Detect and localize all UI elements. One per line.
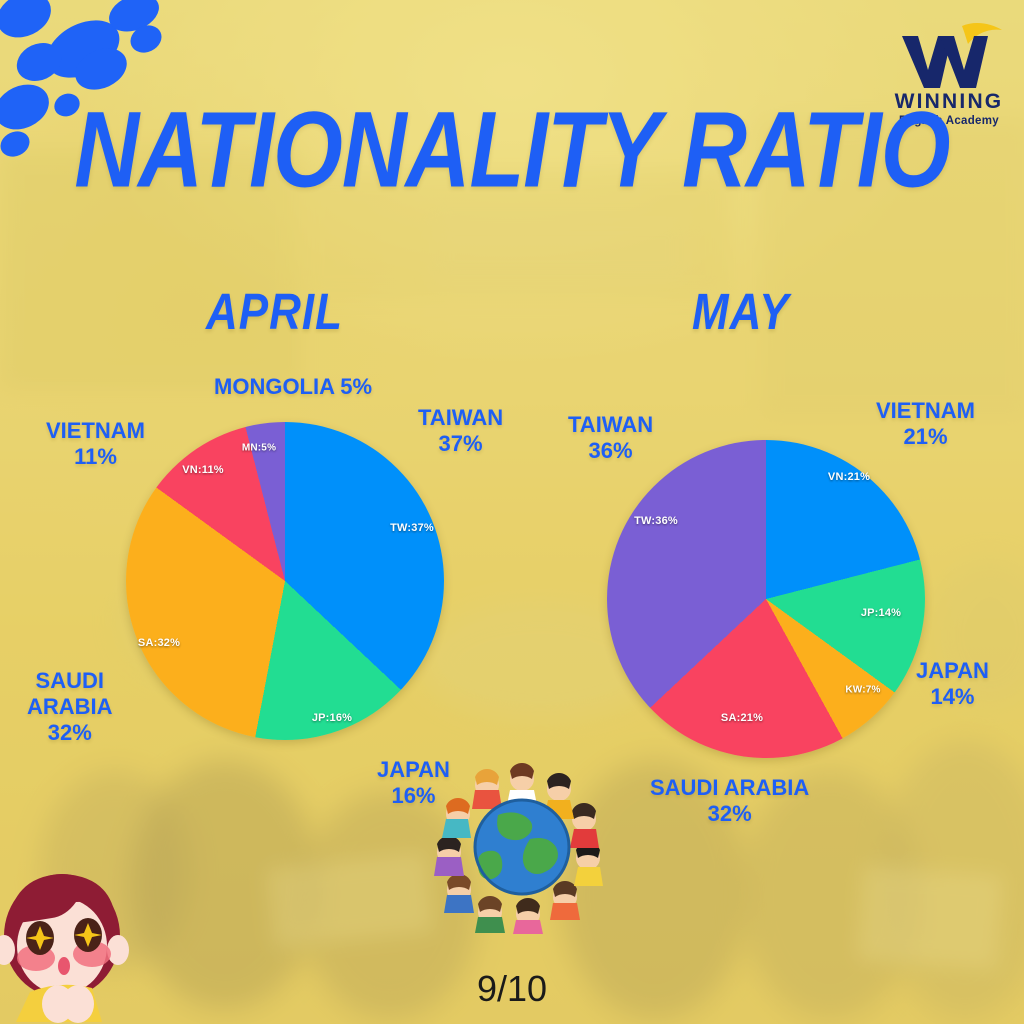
slice-label-taiwan-april: TW:37% bbox=[390, 522, 434, 534]
outer-label-vietnam-may-country: VIETNAM bbox=[876, 398, 975, 423]
slice-label-japan-april: JP:16% bbox=[312, 712, 352, 724]
slice-label-japan-may: JP:14% bbox=[861, 607, 901, 619]
outer-label-saudi-may-country: SAUDI ARABIA bbox=[650, 775, 809, 800]
logo-w-mark bbox=[884, 18, 1014, 92]
outer-label-taiwan-april-country: TAIWAN bbox=[418, 405, 503, 430]
globe-with-children-illustration bbox=[432, 757, 612, 937]
outer-label-japan-may-country: JAPAN bbox=[916, 658, 989, 683]
outer-label-taiwan-may: TAIWAN 36% bbox=[568, 412, 653, 464]
page-title: NATIONALITY RATIO bbox=[0, 96, 1024, 203]
outer-label-saudi-may-pct: 32% bbox=[650, 801, 809, 827]
outer-label-taiwan-april-pct: 37% bbox=[418, 431, 503, 457]
outer-label-japan-may: JAPAN 14% bbox=[916, 658, 989, 710]
outer-label-saudi-april-line2: ARABIA bbox=[27, 694, 113, 720]
slice-label-vietnam-april: VN:11% bbox=[182, 464, 224, 476]
page-number: 9/10 bbox=[0, 968, 1024, 1010]
outer-label-vietnam-may: VIETNAM 21% bbox=[876, 398, 975, 450]
infographic-canvas: WINNING English Academy NATIONALITY RATI… bbox=[0, 0, 1024, 1024]
outer-label-vietnam-may-pct: 21% bbox=[876, 424, 975, 450]
outer-label-saudi-april-line1: SAUDI bbox=[36, 668, 104, 693]
outer-label-taiwan-april: TAIWAN 37% bbox=[418, 405, 503, 457]
outer-label-mongolia-april: MONGOLIA 5% bbox=[214, 374, 372, 400]
outer-label-taiwan-may-country: TAIWAN bbox=[568, 412, 653, 437]
slice-label-mongolia-april: MN:5% bbox=[242, 443, 276, 454]
outer-label-japan-may-pct: 14% bbox=[916, 684, 989, 710]
pie-chart-april bbox=[126, 422, 444, 740]
slice-label-taiwan-may: TW:36% bbox=[634, 515, 678, 527]
outer-label-saudi-april-pct: 32% bbox=[27, 720, 113, 746]
pie-chart-may bbox=[607, 440, 925, 758]
outer-label-vietnam-april-country: VIETNAM bbox=[46, 418, 145, 443]
slice-label-kuwait-may: KW:7% bbox=[845, 685, 880, 696]
slice-label-saudi-april: SA:32% bbox=[138, 637, 180, 649]
slice-label-vietnam-may: VN:21% bbox=[828, 471, 870, 483]
slice-label-saudi-may: SA:21% bbox=[721, 712, 763, 724]
chart-heading-april: APRIL bbox=[206, 284, 343, 342]
chart-heading-may: MAY bbox=[692, 284, 790, 342]
outer-label-taiwan-may-pct: 36% bbox=[568, 438, 653, 464]
outer-label-vietnam-april: VIETNAM 11% bbox=[46, 418, 145, 470]
outer-label-saudi-may: SAUDI ARABIA 32% bbox=[650, 775, 809, 827]
globe-icon bbox=[475, 800, 569, 894]
outer-label-vietnam-april-pct: 11% bbox=[46, 444, 145, 470]
outer-label-saudi-april: SAUDI ARABIA 32% bbox=[27, 668, 113, 746]
